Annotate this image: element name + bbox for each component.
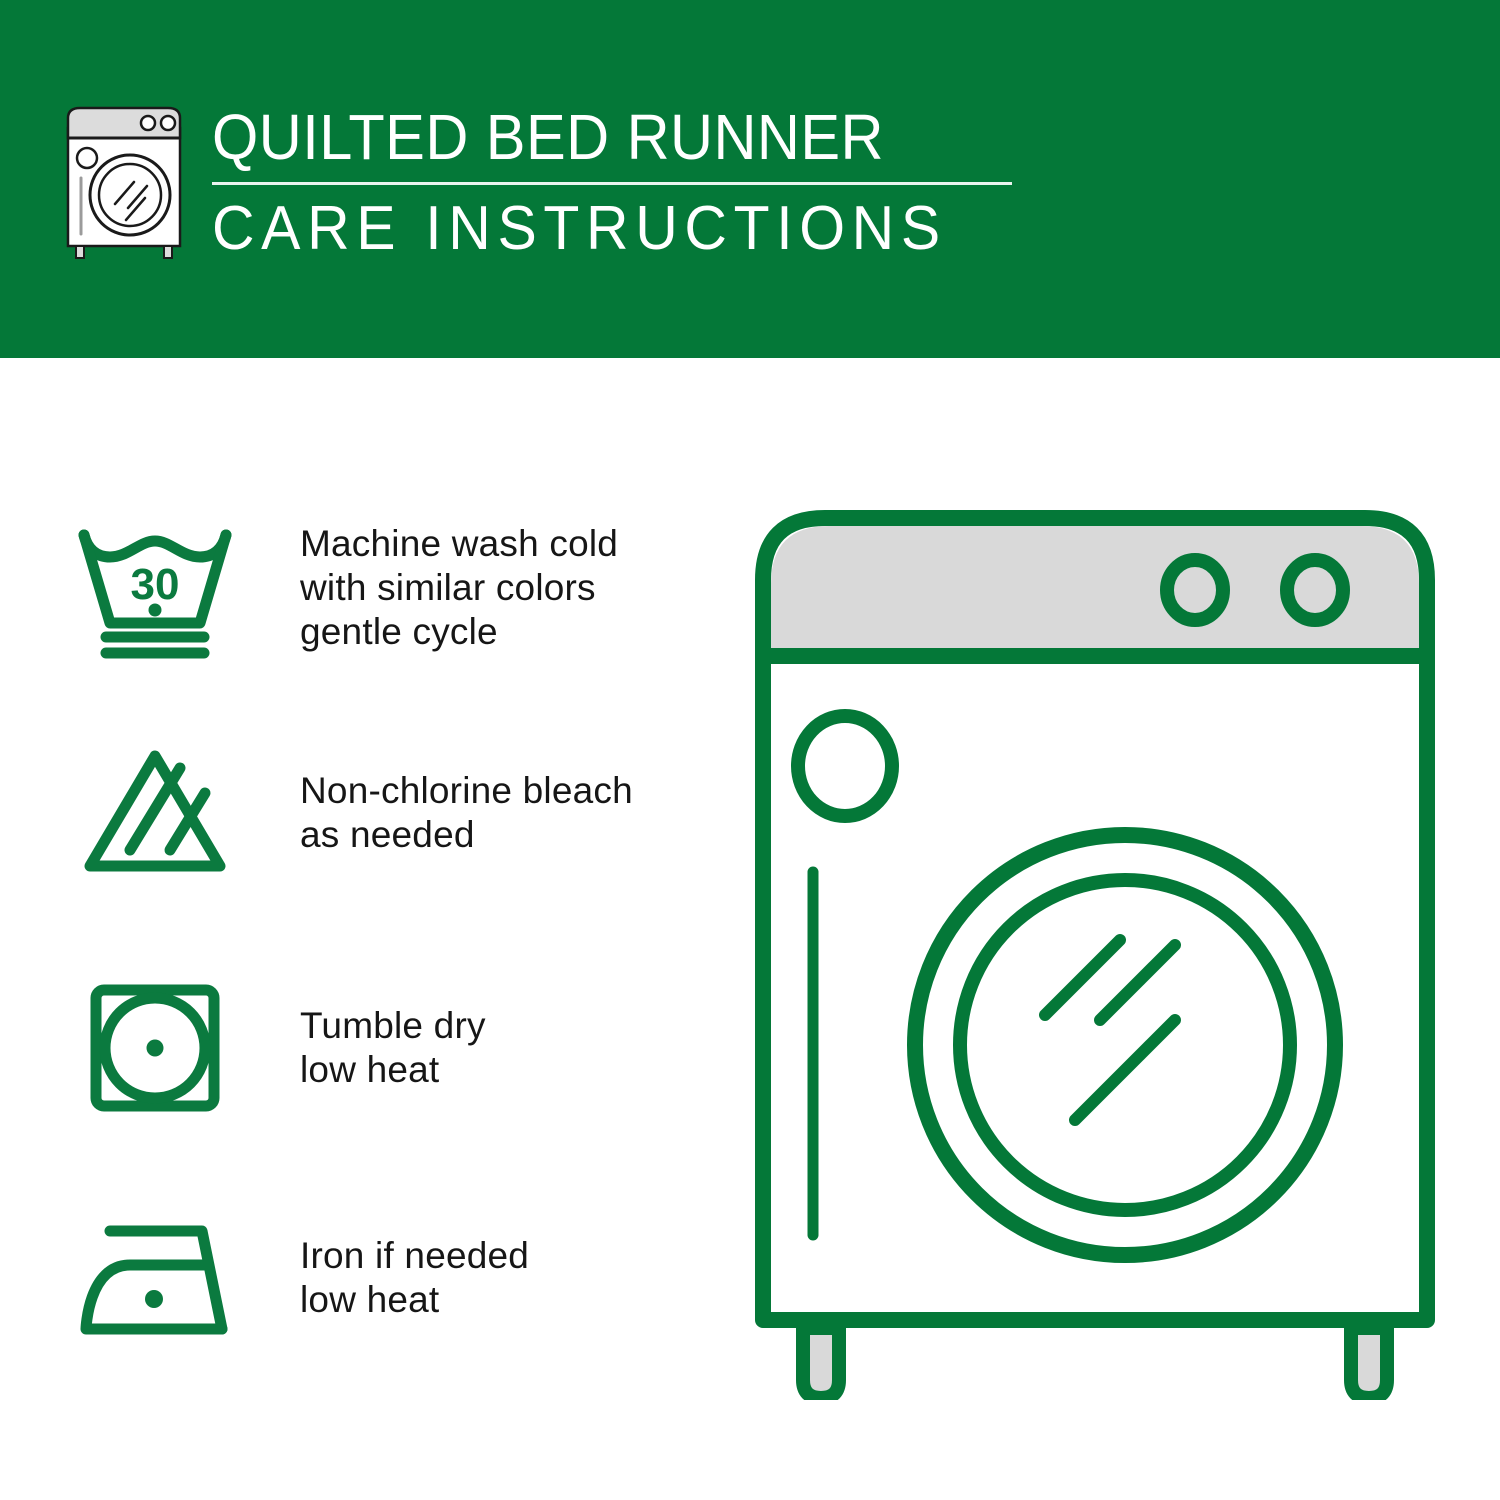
list-item: Tumble dry low heat: [70, 973, 670, 1123]
washer-control-panel: [771, 526, 1419, 656]
care-instruction-list: 30 Machine wash cold with similar colors…: [0, 358, 700, 1500]
page-title: QUILTED BED RUNNER: [212, 102, 956, 172]
page-subtitle: CARE INSTRUCTIONS: [212, 195, 972, 263]
list-item-label: Tumble dry low heat: [300, 1004, 486, 1092]
header-titles: QUILTED BED RUNNER CARE INSTRUCTIONS: [212, 100, 1012, 263]
list-item-label: Iron if needed low heat: [300, 1234, 529, 1322]
header-content: QUILTED BED RUNNER CARE INSTRUCTIONS: [60, 100, 1012, 263]
title-divider: [212, 182, 1012, 185]
iron-low-heat-icon: [70, 1203, 240, 1353]
washer-leg-left: [803, 1328, 839, 1398]
machine-wash-30-gentle-icon: 30: [70, 513, 240, 663]
list-item: Non-chlorine bleach as needed: [70, 738, 670, 888]
header-band: QUILTED BED RUNNER CARE INSTRUCTIONS: [0, 0, 1500, 358]
list-item-label: Non-chlorine bleach as needed: [300, 769, 633, 857]
list-item: 30 Machine wash cold with similar colors…: [70, 513, 670, 663]
list-item: Iron if needed low heat: [70, 1203, 670, 1353]
washer-leg-right: [1351, 1328, 1387, 1398]
washing-machine-icon: [60, 100, 196, 260]
large-washing-machine-illustration: [745, 500, 1445, 1400]
list-item-label: Machine wash cold with similar colors ge…: [300, 522, 618, 654]
wash-temperature-label: 30: [131, 560, 180, 609]
non-chlorine-bleach-icon: [70, 738, 240, 888]
tumble-dry-low-icon: [70, 973, 240, 1123]
